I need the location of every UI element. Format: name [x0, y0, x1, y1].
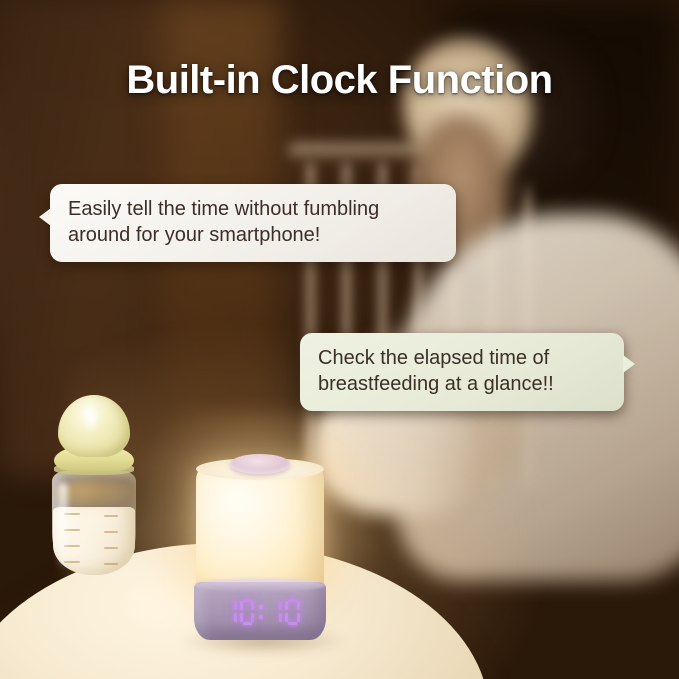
- speech-bubble-tail-left: [39, 208, 51, 226]
- clock-digit-hour-tens: [222, 599, 237, 625]
- bottle-highlight: [58, 483, 68, 567]
- clock-colon-separator: [258, 599, 264, 625]
- baby-night-light-device[interactable]: [186, 448, 334, 644]
- lamp-base-top-edge: [194, 578, 326, 592]
- speech-bubble-tail-right: [623, 355, 635, 373]
- bubble-elapsed-line-2: breastfeeding at a glance!!: [318, 371, 608, 397]
- bottle-mark: [104, 563, 118, 565]
- clock-digit-minute-tens: [268, 599, 283, 625]
- power-touch-button[interactable]: [230, 454, 290, 474]
- speech-bubble-elapsed: Check the elapsed time of breastfeeding …: [300, 333, 624, 411]
- bottle-mark: [104, 547, 118, 549]
- product-image-scene: Built-in Clock Function Easily tell the …: [0, 0, 679, 679]
- bottle-mark: [104, 531, 118, 533]
- page-title: Built-in Clock Function: [0, 58, 679, 103]
- bubble-time-line-2: around for your smartphone!: [68, 222, 440, 248]
- clock-digit-minute-ones: [285, 599, 300, 625]
- speech-bubble-time: Easily tell the time without fumbling ar…: [50, 184, 456, 262]
- bubble-elapsed-line-1: Check the elapsed time of: [318, 345, 608, 371]
- clock-digit-hour-ones: [240, 599, 255, 625]
- led-clock-display: [222, 596, 300, 628]
- light-diffuser-shade: [196, 462, 324, 596]
- bubble-time-line-1: Easily tell the time without fumbling: [68, 196, 440, 222]
- bottle-measurement-marks: [64, 513, 120, 569]
- bottle-mark: [104, 515, 118, 517]
- bottle-nipple-highlight: [82, 403, 100, 433]
